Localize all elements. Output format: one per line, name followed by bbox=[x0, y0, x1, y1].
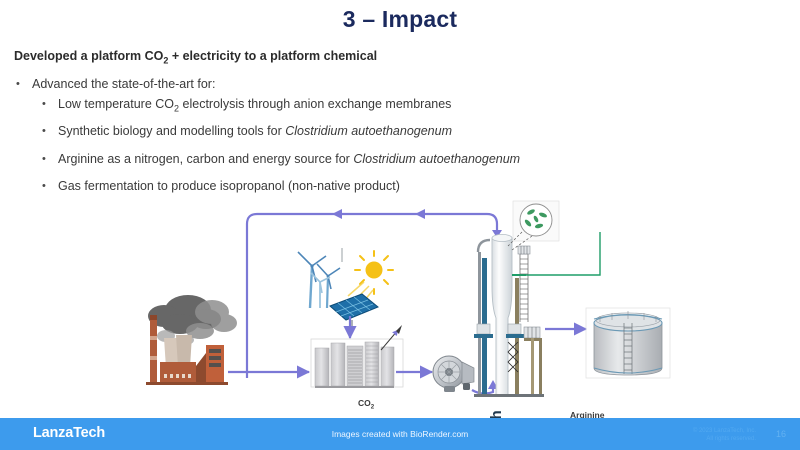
bullet-dot-icon: • bbox=[16, 76, 20, 92]
electrolyzer-stack-icon bbox=[311, 339, 403, 388]
sub-bullet-text-a: Low temperature CO bbox=[58, 97, 174, 111]
copyright-line-2: All rights reserved. bbox=[693, 435, 756, 443]
bioreactor-column-icon bbox=[474, 234, 544, 397]
factory-emissions-source-icon bbox=[146, 295, 237, 385]
compressor-blower-icon bbox=[433, 356, 474, 392]
bullet-level2: •Arginine as a nitrogen, carbon and ener… bbox=[14, 151, 714, 172]
biorender-credit: Images created with BioRender.com bbox=[0, 429, 800, 439]
wind-turbines-icon bbox=[298, 252, 340, 308]
bullet-dot-icon: • bbox=[42, 123, 46, 139]
bullet-dot-icon: • bbox=[42, 151, 46, 167]
slide-canvas: 3 – Impact Developed a platform CO2 + el… bbox=[0, 0, 800, 450]
lede-text-after: + electricity to a platform chemical bbox=[168, 49, 377, 63]
bullet-level2: •Low temperature CO2 electrolysis throug… bbox=[14, 96, 714, 117]
copyright-line-1: © 2023 LanzaTech, Inc. bbox=[693, 427, 756, 435]
isopropanol-storage-tank-icon bbox=[586, 308, 670, 378]
copyright-notice: © 2023 LanzaTech, Inc. All rights reserv… bbox=[693, 427, 756, 443]
page-title: 3 – Impact bbox=[0, 6, 800, 33]
page-number: 16 bbox=[776, 429, 786, 439]
sub-bullet-text-a: Synthetic biology and modelling tools fo… bbox=[58, 124, 285, 138]
recycle-arrowhead bbox=[415, 209, 425, 219]
slide-footer: LanzaTech Images created with BioRender.… bbox=[0, 418, 800, 450]
bullet-level1: • Advanced the state-of-the-art for: bbox=[14, 76, 714, 92]
sub-bullet-text-a: Arginine as a nitrogen, carbon and energ… bbox=[58, 152, 353, 166]
solar-panel-icon bbox=[330, 294, 378, 328]
diagram-svg bbox=[0, 190, 800, 415]
recycle-arrowhead bbox=[332, 209, 342, 219]
sub-bullet-text-b: electrolysis through anion exchange memb… bbox=[179, 97, 451, 111]
bullet-level2: •Synthetic biology and modelling tools f… bbox=[14, 123, 714, 144]
microbe-inset-icon bbox=[508, 201, 559, 250]
slide-body: Developed a platform CO2 + electricity t… bbox=[14, 48, 714, 206]
label-co2-recycle: CO2 bbox=[355, 398, 377, 411]
bullet-dot-icon: • bbox=[42, 96, 46, 112]
lede-text-before: Developed a platform CO bbox=[14, 49, 163, 63]
process-flow-diagram: CO2 CO2 CO O2 e- Dioxide Materials Argin… bbox=[0, 190, 800, 415]
lede-heading: Developed a platform CO2 + electricity t… bbox=[14, 48, 714, 69]
bullet-level1-label: Advanced the state-of-the-art for: bbox=[32, 77, 215, 91]
sub-bullet-italic: Clostridium autoethanogenum bbox=[353, 152, 520, 166]
sub-bullet-italic: Clostridium autoethanogenum bbox=[285, 124, 452, 138]
